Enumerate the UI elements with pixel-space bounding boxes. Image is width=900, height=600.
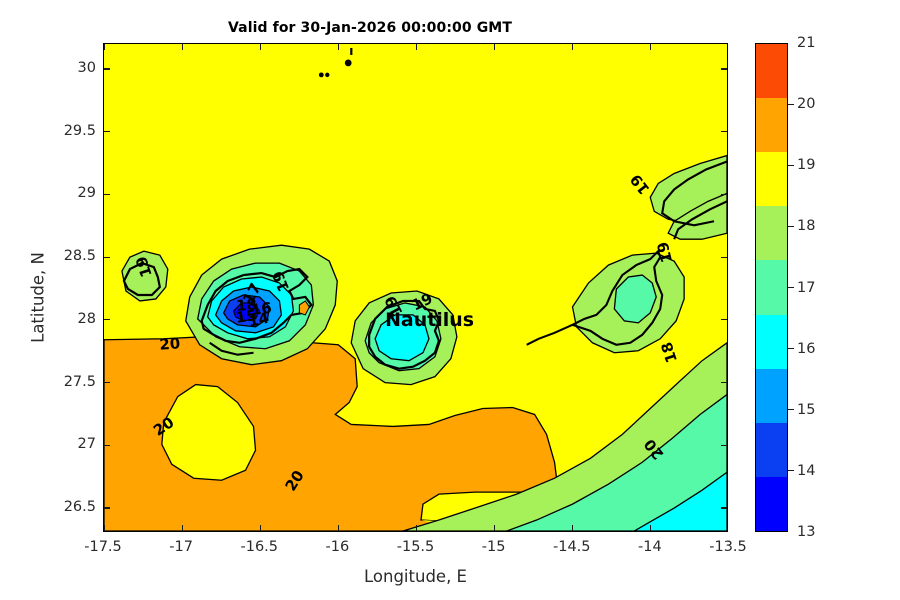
y-tick xyxy=(721,257,727,258)
colorbar-tick-label-1: 14 xyxy=(797,463,815,479)
x-tick xyxy=(338,525,339,531)
x-tick xyxy=(416,525,417,531)
region-gran-canaria xyxy=(351,291,457,385)
y-tick xyxy=(721,319,727,320)
y-tick xyxy=(721,194,727,195)
colorbar-tick xyxy=(788,348,794,349)
x-tick xyxy=(338,44,339,50)
region-fuerteventura xyxy=(527,251,684,353)
y-tick xyxy=(104,194,110,195)
y-tick-label-2: 27.5 xyxy=(28,374,96,390)
colorbar-tick xyxy=(788,470,794,471)
region-southwest-warm-pool xyxy=(104,336,558,531)
station-label-nautilus: Nautilus xyxy=(385,309,474,331)
x-tick-label-8: -13.5 xyxy=(709,539,747,555)
colorbar-tick-label-7: 20 xyxy=(797,96,815,112)
x-tick xyxy=(650,44,651,50)
y-tick xyxy=(104,68,110,69)
colorbar-tick xyxy=(788,409,794,410)
contour-label-19-southeast: 18 xyxy=(657,340,681,365)
colorbar-tick-label-2: 15 xyxy=(797,402,815,418)
x-tick xyxy=(260,525,261,531)
colorbar-tick-label-5: 18 xyxy=(797,218,815,234)
x-tick xyxy=(182,44,183,50)
y-tick-label-4: 28.5 xyxy=(28,248,96,264)
y-tick xyxy=(721,68,727,69)
colorbar-band-7 xyxy=(756,98,787,152)
x-tick-label-5: -15 xyxy=(482,539,506,555)
y-tick xyxy=(104,445,110,446)
y-tick xyxy=(721,507,727,508)
x-tick-label-3: -16 xyxy=(326,539,350,555)
colorbar-band-6 xyxy=(756,152,787,206)
x-tick xyxy=(182,525,183,531)
y-tick-label-1: 27 xyxy=(28,436,96,452)
x-tick xyxy=(103,44,104,50)
y-tick xyxy=(721,131,727,132)
colorbar-tick-label-8: 21 xyxy=(797,35,815,51)
y-tick xyxy=(104,382,110,383)
colorbar-band-3 xyxy=(756,315,787,369)
region-lanzarote xyxy=(650,156,727,240)
colorbar-tick xyxy=(788,104,794,105)
colorbar-tick xyxy=(788,165,794,166)
colorbar-tick-label-0: 13 xyxy=(797,524,815,540)
x-tick xyxy=(494,44,495,50)
x-tick xyxy=(416,44,417,50)
x-tick xyxy=(650,525,651,531)
y-tick xyxy=(721,445,727,446)
y-tick xyxy=(721,382,727,383)
y-tick-label-7: 30 xyxy=(28,60,96,76)
temperature-contour-map: 19 18 17 16 15 14 19 19 19 19 19 18 20 2… xyxy=(104,44,727,531)
x-tick xyxy=(572,44,573,50)
x-tick xyxy=(494,525,495,531)
y-axis-title: Latitude, N xyxy=(29,198,48,398)
colorbar-band-5 xyxy=(756,206,787,260)
contour-label-19-lanzarote: 19 xyxy=(626,171,653,198)
x-tick-label-6: -14.5 xyxy=(553,539,591,555)
colorbar[interactable] xyxy=(755,43,788,532)
colorbar-band-1 xyxy=(756,423,787,477)
x-axis-title: Longitude, E xyxy=(103,567,728,586)
colorbar-tick xyxy=(788,226,794,227)
map-plot-area[interactable]: 19 18 17 16 15 14 19 19 19 19 19 18 20 2… xyxy=(103,43,728,532)
y-tick-label-3: 28 xyxy=(28,311,96,327)
x-tick-label-1: -17 xyxy=(169,539,193,555)
x-tick-label-4: -15.5 xyxy=(397,539,435,555)
colorbar-tick-label-6: 19 xyxy=(797,157,815,173)
y-tick xyxy=(104,319,110,320)
salvage-islets xyxy=(319,48,352,77)
y-tick-label-5: 29 xyxy=(28,185,96,201)
chart-title: Valid for 30-Jan-2026 00:00:00 GMT xyxy=(0,20,740,36)
colorbar-tick-label-3: 16 xyxy=(797,341,815,357)
y-tick xyxy=(104,257,110,258)
y-tick xyxy=(104,507,110,508)
colorbar-tick-label-4: 17 xyxy=(797,280,815,296)
colorbar-band-0 xyxy=(756,477,787,531)
colorbar-band-4 xyxy=(756,260,787,314)
contour-label-20-northwest: 20 xyxy=(159,334,181,353)
figure-root: { "figure": { "title": "Valid for 30-Jan… xyxy=(0,0,900,600)
colorbar-band-8 xyxy=(756,44,787,98)
x-tick xyxy=(260,44,261,50)
colorbar-tick xyxy=(788,287,794,288)
y-tick xyxy=(104,131,110,132)
x-tick xyxy=(572,525,573,531)
y-tick-label-6: 29.5 xyxy=(28,123,96,139)
x-tick xyxy=(103,525,104,531)
x-tick-label-0: -17.5 xyxy=(84,539,122,555)
x-tick-label-7: -14 xyxy=(638,539,662,555)
x-tick-label-2: -16.5 xyxy=(240,539,278,555)
y-tick-label-0: 26.5 xyxy=(28,499,96,515)
colorbar-band-2 xyxy=(756,369,787,423)
contour-label-19-fuerteventura: 19 xyxy=(654,240,677,265)
